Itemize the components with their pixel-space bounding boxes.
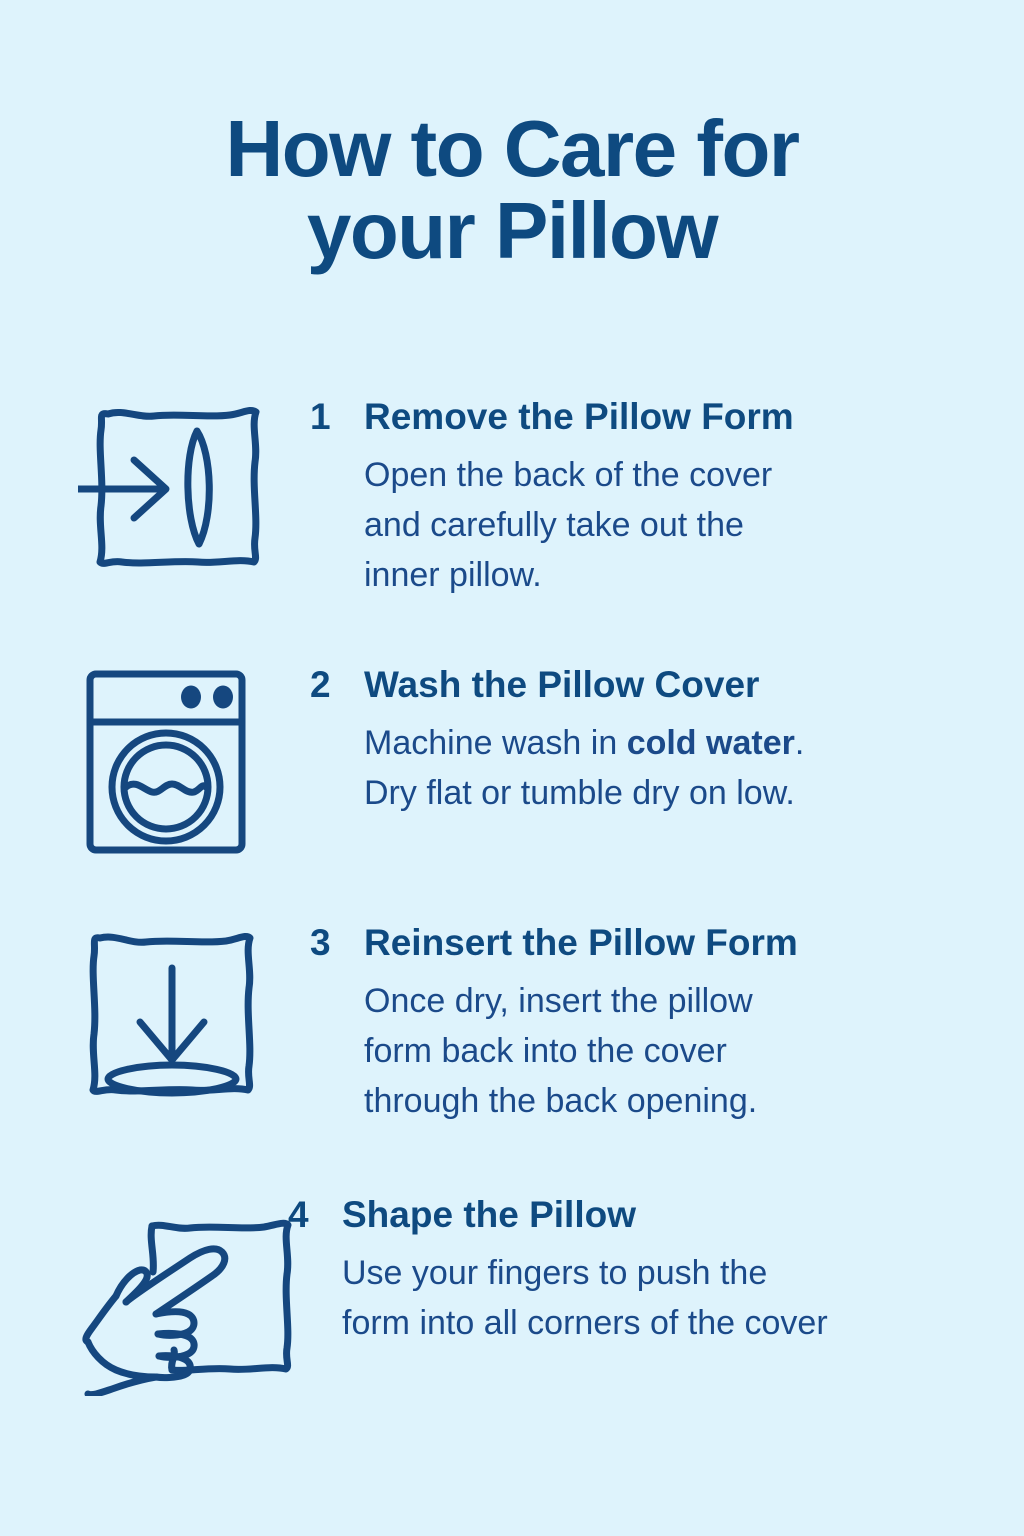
step-2-desc-suffix: . — [795, 724, 804, 762]
step-4-heading: Shape the Pillow — [342, 1192, 1024, 1238]
step-2-desc-line-2: Dry flat or tumble dry on low. — [364, 768, 944, 818]
step-item-2: 2 Wash the Pillow Cover Machine wash in … — [0, 660, 1024, 918]
step-3-desc-line-1: Once dry, insert the pillow — [364, 976, 944, 1026]
step-1-text-cell: 1 Remove the Pillow Form Open the back o… — [310, 392, 1024, 600]
pillow-with-down-arrow-icon — [78, 922, 274, 1108]
step-3-body: Reinsert the Pillow Form Once dry, inser… — [364, 920, 1024, 1126]
step-1-desc-line-3: inner pillow. — [364, 550, 944, 600]
page-title-line-1: How to Care for — [60, 108, 964, 190]
step-2-heading: Wash the Pillow Cover — [364, 662, 1024, 708]
step-2-description: Machine wash in cold water. Dry flat or … — [364, 718, 944, 818]
pillow-with-arrow-in-icon — [78, 396, 278, 576]
infographic-page: How to Care for your Pillow 1 Remov — [0, 0, 1024, 1536]
step-4-description: Use your fingers to push the form into a… — [342, 1248, 922, 1348]
step-4-desc-line-1: Use your fingers to push the — [342, 1248, 922, 1298]
step-1-description: Open the back of the cover and carefully… — [364, 450, 944, 600]
page-title-line-2: your Pillow — [60, 190, 964, 272]
step-4-number: 4 — [288, 1192, 342, 1238]
step-1-desc-line-1: Open the back of the cover — [364, 450, 944, 500]
step-2-body: Wash the Pillow Cover Machine wash in co… — [364, 662, 1024, 818]
step-4-body: Shape the Pillow Use your fingers to pus… — [342, 1192, 1024, 1348]
step-4-icon-cell — [56, 1190, 288, 1396]
step-3-desc-line-3: through the back opening. — [364, 1076, 944, 1126]
step-4-text-cell: 4 Shape the Pillow Use your fingers to p… — [288, 1190, 1024, 1348]
step-item-4: 4 Shape the Pillow Use your fingers to p… — [0, 1190, 1024, 1440]
step-3-description: Once dry, insert the pillow form back in… — [364, 976, 944, 1126]
step-1-body: Remove the Pillow Form Open the back of … — [364, 394, 1024, 600]
step-2-icon-cell — [78, 660, 310, 858]
step-2-desc-emphasis: cold water — [627, 724, 795, 762]
washing-machine-icon — [78, 666, 263, 858]
step-2-desc-line-1: Machine wash in cold water. — [364, 718, 944, 768]
step-1-desc-line-2: and carefully take out the — [364, 500, 944, 550]
step-4-desc-line-2: form into all corners of the cover — [342, 1298, 922, 1348]
step-3-heading: Reinsert the Pillow Form — [364, 920, 1024, 966]
step-3-number: 3 — [310, 920, 364, 966]
step-2-desc-prefix: Machine wash in — [364, 724, 627, 762]
step-2-text-cell: 2 Wash the Pillow Cover Machine wash in … — [310, 660, 1024, 818]
step-1-heading: Remove the Pillow Form — [364, 394, 1024, 440]
step-item-3: 3 Reinsert the Pillow Form Once dry, ins… — [0, 918, 1024, 1190]
hand-pointing-pillow-icon — [56, 1216, 306, 1396]
step-1-number: 1 — [310, 394, 364, 440]
step-item-1: 1 Remove the Pillow Form Open the back o… — [0, 392, 1024, 660]
page-title: How to Care for your Pillow — [0, 108, 1024, 271]
step-3-desc-line-2: form back into the cover — [364, 1026, 944, 1076]
step-3-text-cell: 3 Reinsert the Pillow Form Once dry, ins… — [310, 918, 1024, 1126]
step-2-number: 2 — [310, 662, 364, 708]
step-1-icon-cell — [78, 392, 310, 576]
steps-list: 1 Remove the Pillow Form Open the back o… — [0, 392, 1024, 1440]
step-3-icon-cell — [78, 918, 310, 1108]
